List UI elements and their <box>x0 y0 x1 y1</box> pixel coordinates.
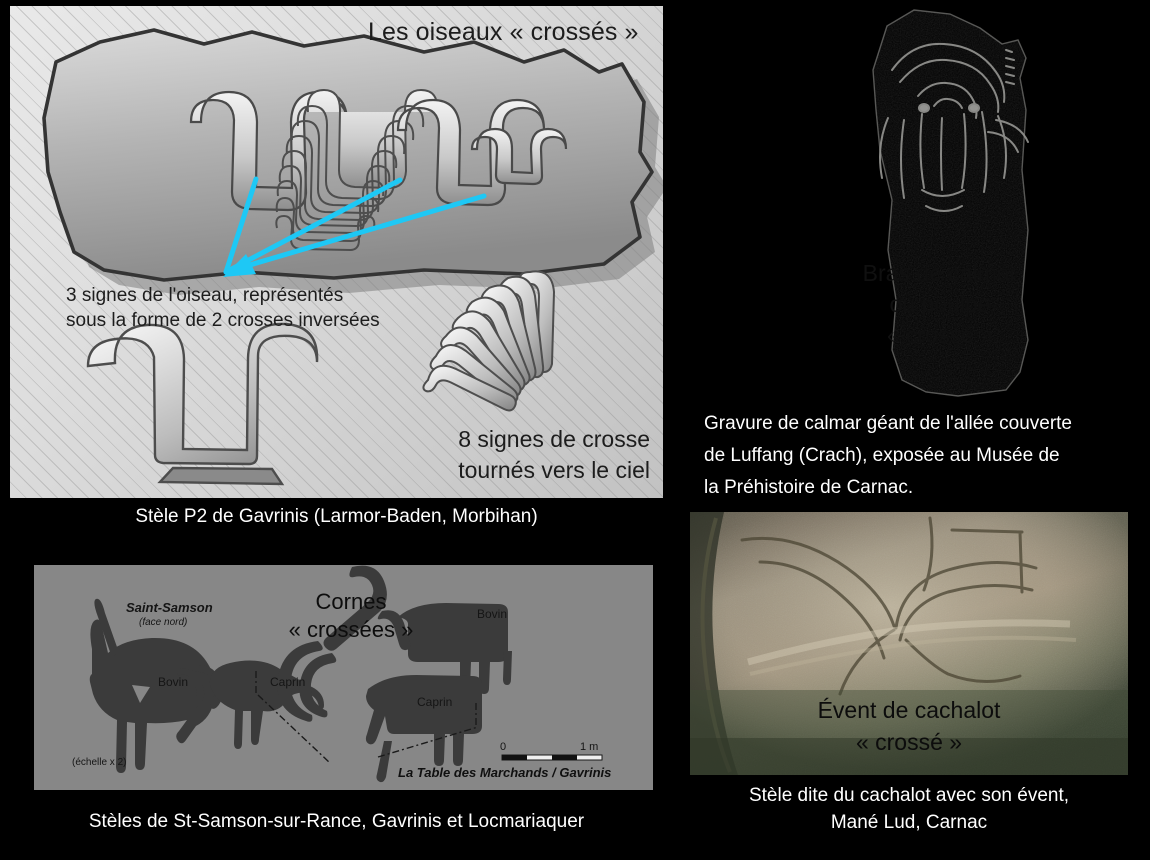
crook-sign-large <box>88 324 317 484</box>
caption-gavrinis: Stèle P2 de Gavrinis (Larmor-Baden, Morb… <box>10 503 663 530</box>
luffang-overlay-line-3: « crossé » <box>760 320 1120 351</box>
bovin-right-leg <box>503 651 512 685</box>
scale-label-one: 1 m <box>580 741 598 753</box>
label-face-nord: (face nord) <box>139 617 187 628</box>
panel-gavrinis-drawing: Les oiseaux « crossés » 3 signes de l'oi… <box>10 6 663 498</box>
luffang-overlay-line-1: Bras de calmar <box>760 258 1120 289</box>
cornes-title-line-2: « crossées » <box>256 616 446 644</box>
label-caprin-left: Caprin <box>270 675 305 689</box>
note-crook-signs: 8 signes de crosse tournés vers le ciel <box>365 424 650 486</box>
label-bovin-left: Bovin <box>158 675 188 689</box>
caption-manelud: Stèle dite du cachalot avec son évent, M… <box>690 782 1128 836</box>
caption-luffang-line-2: de Luffang (Crach), exposée au Musée de <box>704 440 1144 472</box>
panel-gavrinis-title: Les oiseaux « crossés » <box>368 18 639 47</box>
manelud-overlay-line-1: Évent de cachalot <box>690 694 1128 726</box>
label-caprin-right: Caprin <box>417 695 452 709</box>
caption-luffang-line-3: la Préhistoire de Carnac. <box>704 472 1144 504</box>
caption-cornes: Stèles de St-Samson-sur-Rance, Gavrinis … <box>10 808 663 835</box>
caption-luffang: Gravure de calmar géant de l'allée couve… <box>704 408 1144 504</box>
label-table-des-marchands: La Table des Marchands / Gavrinis <box>398 765 611 780</box>
note-crook-line-2: tournés vers le ciel <box>365 455 650 486</box>
crook-signs-fan <box>423 271 554 410</box>
manelud-overlay-label: Évent de cachalot « crossé » <box>690 694 1128 758</box>
scale-label-zero: 0 <box>500 741 506 753</box>
label-echelle: (échelle x 2) <box>72 757 126 768</box>
note-bird-signs: 3 signes de l'oiseau, représentés sous l… <box>66 283 380 333</box>
luffang-overlay-line-2: ou poulpe <box>760 289 1120 320</box>
caprin-right-leg <box>376 741 392 782</box>
label-bovin-right: Bovin <box>477 607 507 621</box>
manelud-overlay-line-2: « crossé » <box>690 726 1128 758</box>
slide-canvas: Les oiseaux « crossés » 3 signes de l'oi… <box>0 0 1150 860</box>
caption-manelud-line-2: Mané Lud, Carnac <box>690 809 1128 836</box>
panel-cornes-diagram: Cornes « crossées » Saint-Samson (face n… <box>34 565 653 790</box>
note-crook-line-1: 8 signes de crosse <box>365 424 650 455</box>
panel-manelud-photo: Évent de cachalot « crossé » <box>690 512 1128 775</box>
caption-manelud-line-1: Stèle dite du cachalot avec son évent, <box>690 782 1128 809</box>
cornes-title: Cornes « crossées » <box>256 588 446 644</box>
cornes-title-line-1: Cornes <box>256 588 446 616</box>
luffang-overlay-label: Bras de calmar ou poulpe « crossé » <box>760 258 1120 351</box>
note-bird-line-1: 3 signes de l'oiseau, représentés <box>66 283 380 308</box>
caption-luffang-line-1: Gravure de calmar géant de l'allée couve… <box>704 408 1144 440</box>
label-saint-samson: Saint-Samson <box>126 600 213 615</box>
note-bird-line-2: sous la forme de 2 crosses inversées <box>66 308 380 333</box>
scale-bar <box>502 755 602 760</box>
